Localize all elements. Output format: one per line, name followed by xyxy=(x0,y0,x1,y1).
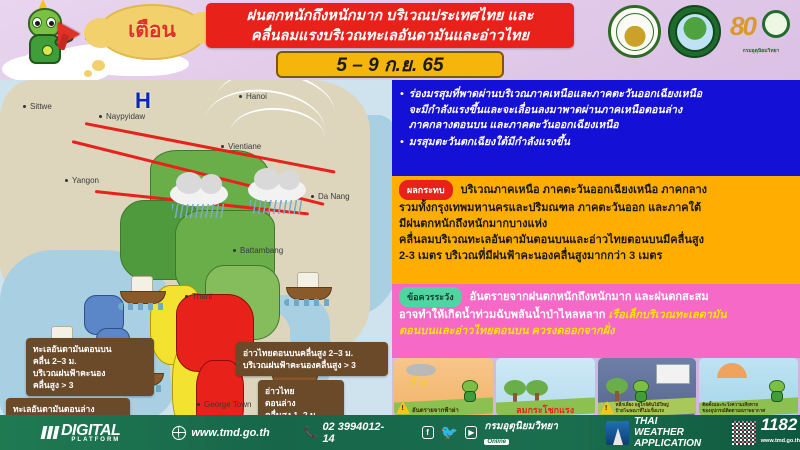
mascot-badge-icon xyxy=(42,45,53,56)
anniversary-number: 80 xyxy=(730,11,755,42)
safety-cards: ⚡ ⚡ อันตรายจากฟ้าผ่า ลมกระโชกแรง หลีกเลี… xyxy=(392,358,800,416)
billboard-icon xyxy=(656,364,690,384)
facebook-icon[interactable]: f xyxy=(422,426,434,439)
social-sub: Online xyxy=(484,439,509,445)
bars-icon xyxy=(42,426,58,439)
card-strong-gusty-wind[interactable]: ลมกระโชกแรง xyxy=(496,358,595,416)
city-label: Hanoi xyxy=(246,92,267,101)
youtube-icon[interactable]: ▶ xyxy=(465,426,477,439)
city-label: Yangon xyxy=(72,176,99,185)
bubble-dot-icon xyxy=(92,60,105,71)
hotline-block[interactable]: 1182 www.tmd.go.th xyxy=(732,417,800,449)
bullet-icon: • xyxy=(400,135,404,151)
mascot-eye-left-icon xyxy=(32,17,42,28)
mini-mascot-icon xyxy=(768,380,786,402)
bubble-dot-icon xyxy=(84,70,92,77)
twitter-icon[interactable]: 🐦 xyxy=(441,424,458,441)
ministry-seal-icon xyxy=(608,5,661,58)
app-line-2: APPLICATION xyxy=(634,438,706,449)
warning-triangle-icon xyxy=(396,401,410,414)
hotline-value: 1182 xyxy=(761,415,798,434)
hotline-number: 1182 www.tmd.go.th xyxy=(761,417,800,449)
title-line-2: คลื่นลมแรงบริเวณทะเลอันดามันและอ่าวไทย xyxy=(251,26,529,46)
boat-icon xyxy=(120,276,166,310)
high-pressure-symbol: H xyxy=(135,88,151,114)
impact-line-5: 2-3 เมตร บริเวณที่มีฝนฟ้าคะนองคลื่นสูงมา… xyxy=(399,248,793,264)
infographic-root: เตือน ฝนตกหนักถึงหนักมาก บริเวณประเทศไทย… xyxy=(0,0,800,450)
caution-chip: ข้อควรระวัง xyxy=(399,287,462,307)
social-label: กรมอุตุนิยมวิทยา xyxy=(484,421,558,432)
card-weather-equipment[interactable]: ติดตั้งและระวังความเสียหาย ของอุปกรณ์ติด… xyxy=(699,358,798,416)
map-label-andaman-upper: ทะเลอันดามันตอนบน คลื่น 2–3 ม. บริเวณฝนฟ… xyxy=(26,338,154,396)
impact-line-1: บริเวณภาคเหนือ ภาคตะวันออกเฉียงเหนือ ภาค… xyxy=(461,184,707,196)
situation-bullet-2: มรสุมตะวันตกเฉียงใต้มีกำลังแรงขึ้น xyxy=(409,135,570,151)
umbrella-icon xyxy=(717,363,747,378)
card-avoid-trees-billboards[interactable]: หลีกเลี่ยง อยู่ใกล้ต้นไม้ใหญ่ ป้ายโฆษณาท… xyxy=(598,358,697,416)
footer-bar: DIGITAL PLATFORM www.tmd.go.th 📞 02 3994… xyxy=(0,415,800,450)
date-range-banner: 5 – 9 ก.ย. 65 xyxy=(276,51,504,78)
globe-icon xyxy=(172,426,186,440)
anniversary-80-icon: 80 กรมอุตุนิยมวิทยา xyxy=(728,7,794,57)
app-line-1: THAI WEATHER xyxy=(634,416,706,438)
caution-panel: ข้อควรระวัง อันตรายจากฝนตกหนักถึงหนักมาก… xyxy=(392,284,800,358)
anniversary-caption: กรมอุตุนิยมวิทยา xyxy=(728,47,794,55)
situation-bullet-1: ร่องมรสุมที่พาดผ่านบริเวณภาคเหนือและภาคต… xyxy=(409,87,702,134)
map-label-andaman-lower: ทะเลอันดามันตอนล่าง คลื่น ≈ 2 ม. บริเวณฝ… xyxy=(6,398,130,415)
impact-line-2: รวมทั้งกรุงเทพมหานครและปริมณฑล ภาคตะวันอ… xyxy=(399,200,793,216)
phone-contact[interactable]: 📞 02 3994012-14 xyxy=(304,421,392,445)
impact-panel: ผลกระทบ บริเวณภาคเหนือ ภาคตะวันออกเฉียงเ… xyxy=(392,176,800,284)
weather-map: H Sittwe Naypyidaw Hanoi Yangon Vientian… xyxy=(0,80,392,415)
storm-cloud-icon xyxy=(170,182,228,206)
city-label: Da Nang xyxy=(318,192,350,201)
rain-icon xyxy=(250,200,302,214)
boat-icon xyxy=(286,272,332,306)
card-caption-4: ติดตั้งและระวังความเสียหาย ของอุปกรณ์ติด… xyxy=(702,402,795,414)
caution-line-2-highlight: เรือเล็กบริเวณทะเลดามัน xyxy=(608,309,726,321)
tree-icon xyxy=(606,378,628,402)
impact-line-4: คลื่นลมบริเวณทะเลอันดามันตอนบนและอ่าวไทย… xyxy=(399,232,793,248)
mascot-eye-right-icon xyxy=(46,17,56,28)
tmd-seal-icon xyxy=(668,5,721,58)
city-label: Thani xyxy=(192,292,212,301)
app-icon xyxy=(606,421,629,445)
impact-line-3: มีฝนตกหนักถึงหนักมากบางแห่ง xyxy=(399,216,793,232)
thai-weather-app[interactable]: THAI WEATHER APPLICATION xyxy=(606,416,705,449)
title-line-1: ฝนตกหนักถึงหนักมาก บริเวณประเทศไทย และ xyxy=(247,6,534,26)
caution-line-3-highlight: ตอนบนและอ่าวไทยตอนบน ควรงดออกจากฝั่ง xyxy=(399,323,793,339)
social-links[interactable]: f 🐦 ▶ กรมอุตุนิยมวิทยา Online xyxy=(422,419,579,446)
warning-bubble-label: เตือน xyxy=(98,14,206,47)
agency-logos: 80 กรมอุตุนิยมวิทยา xyxy=(608,5,794,58)
card-lightning-danger[interactable]: ⚡ ⚡ อันตรายจากฟ้าผ่า xyxy=(394,358,493,416)
rain-icon xyxy=(172,204,224,218)
digital-platform-logo: DIGITAL PLATFORM xyxy=(42,422,120,443)
hotline-subtext: www.tmd.go.th xyxy=(761,433,800,449)
bullet-icon: • xyxy=(400,87,404,134)
city-label: Sittwe xyxy=(30,102,52,111)
situation-panel: • ร่องมรสุมที่พาดผ่านบริเวณภาคเหนือและภา… xyxy=(392,80,800,176)
map-label-gulf-upper: อ่าวไทยตอนบนคลื่นสูง 2–3 ม. บริเวณฝนฟ้าค… xyxy=(236,342,388,376)
impact-chip: ผลกระทบ xyxy=(399,180,453,200)
storm-cloud-icon xyxy=(248,178,306,202)
map-label-gulf-lower: อ่าวไทย ตอนล่าง คลื่นสูง 1–2 ม. บริเวณฝน… xyxy=(258,380,344,415)
caution-line-1: อันตรายจากฝนตกหนักถึงหนักมาก และฝนตกสะสม xyxy=(470,291,709,303)
phone-icon: 📞 xyxy=(304,426,318,439)
card-caption-2: ลมกระโชกแรง xyxy=(499,407,592,413)
qr-code-icon[interactable] xyxy=(732,421,756,445)
card-caption-1: อันตรายจากฟ้าผ่า xyxy=(397,408,490,414)
lightning-bolt-icon: ⚡ xyxy=(408,372,419,392)
city-label: Vientiane xyxy=(228,142,261,151)
card-caption-3: หลีกเลี่ยง อยู่ใกล้ต้นไม้ใหญ่ ป้ายโฆษณาท… xyxy=(601,402,694,414)
city-label: Naypyidaw xyxy=(106,112,145,121)
website-link[interactable]: www.tmd.go.th xyxy=(172,426,269,440)
city-label: George Town xyxy=(204,400,251,409)
caution-line-2-plain: อาจทำให้เกิดน้ำท่วมฉับพลันน้ำป่าไหลหลาก xyxy=(399,309,608,321)
phone-text: 02 3994012-14 xyxy=(322,421,391,445)
title-banner: ฝนตกหนักถึงหนักมาก บริเวณประเทศไทย และ ค… xyxy=(206,3,574,48)
mini-mascot-icon xyxy=(461,380,479,402)
website-text: www.tmd.go.th xyxy=(191,427,269,439)
city-label: Battambang xyxy=(240,246,283,255)
mini-mascot-icon xyxy=(632,380,650,402)
warning-triangle-icon xyxy=(600,401,614,414)
lightning-bolt-icon: ⚡ xyxy=(420,376,429,392)
